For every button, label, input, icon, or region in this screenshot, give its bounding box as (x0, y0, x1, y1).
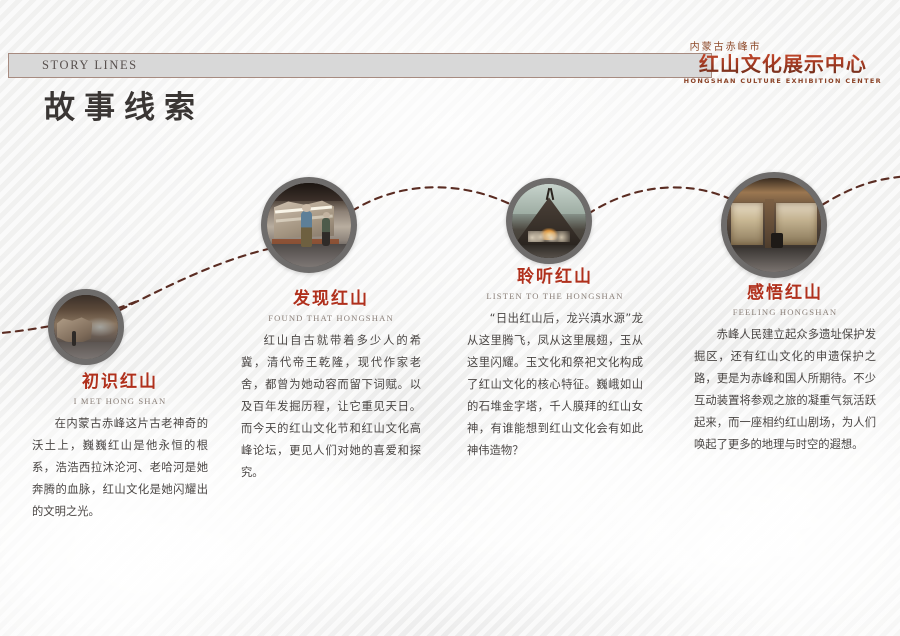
ceiling-beam (727, 178, 821, 202)
ceiling-shape (267, 183, 351, 201)
photo-3-scene (512, 184, 586, 258)
story-3-body: “日出红山后，龙兴滇水源”龙从这里腾飞，凤从这里展翅，玉从这里闪耀。玉文化和祭祀… (467, 308, 643, 462)
story-1-subtitle: I MET HONG SHAN (32, 396, 208, 406)
story-3-title: 聆听红山 (467, 267, 643, 287)
logo-title-en: HONGSHAN CULTURE EXHIBITION CENTER (684, 77, 882, 85)
photo-4-scene (727, 178, 821, 272)
story-block-1: 初识红山 I MET HONG SHAN 在内蒙古赤峰这片古老神奇的沃土上，巍巍… (32, 372, 208, 523)
story-4-title: 感悟红山 (694, 283, 876, 303)
story-1-title: 初识红山 (32, 372, 208, 392)
visitor-figure-b (322, 218, 330, 246)
story-lines-bar: STORY LINES (8, 53, 712, 78)
page-title: 故事线索 (44, 82, 204, 127)
floor-shape (267, 244, 351, 267)
water-shape (512, 245, 586, 258)
photo-2-scene (267, 183, 351, 267)
story-photo-3[interactable] (506, 178, 592, 264)
story-photo-1[interactable] (48, 289, 124, 365)
story-4-subtitle: FEELING HONGSHAN (694, 307, 876, 317)
story-1-body: 在内蒙古赤峰这片古老神奇的沃土上，巍巍红山是他永恒的根系，浩浩西拉沐沦河、老哈河… (32, 413, 208, 523)
roof-poles (545, 188, 555, 200)
dash-segment-2-3 (352, 187, 512, 211)
info-kiosk (771, 233, 783, 248)
story-2-subtitle: FOUND THAT HONGSHAN (241, 313, 421, 323)
dash-segment-end (822, 176, 900, 205)
story-lines-label: STORY LINES (42, 58, 138, 73)
story-block-3: 聆听红山 LISTEN TO THE HONGSHAN “日出红山后，龙兴滇水源… (467, 267, 643, 463)
exhibition-center-logo: 内蒙古赤峰市 红山文化展示中心 HONGSHAN CULTURE EXHIBIT… (684, 38, 882, 85)
story-2-title: 发现红山 (241, 289, 421, 309)
floor-shape (727, 248, 821, 272)
visitor-figure-a (301, 211, 312, 247)
photo-1-scene (54, 295, 118, 359)
story-3-subtitle: LISTEN TO THE HONGSHAN (467, 291, 643, 301)
visitor-figure (72, 331, 76, 346)
display-case-left (731, 203, 763, 244)
dash-segment-3-4 (588, 187, 744, 214)
story-2-body: 红山自古就带着多少人的希冀，清代帝王乾隆，现代作家老舍，都曾为她动容而留下词赋。… (241, 330, 421, 484)
story-photo-2[interactable] (261, 177, 357, 273)
story-block-4: 感悟红山 FEELING HONGSHAN 赤峰人民建立起众多遗址保护发掘区，还… (694, 283, 876, 456)
figures-group (528, 231, 569, 241)
floor-shape (54, 342, 118, 359)
story-photo-4[interactable] (721, 172, 827, 278)
logo-subtitle-cn: 内蒙古赤峰市 (684, 38, 882, 53)
logo-title-cn: 红山文化展示中心 (684, 54, 882, 75)
story-4-body: 赤峰人民建立起众多遗址保护发掘区，还有红山文化的申遗保护之路，更是为赤峰和国人所… (694, 324, 876, 456)
story-block-2: 发现红山 FOUND THAT HONGSHAN 红山自古就带着多少人的希冀，清… (241, 289, 421, 485)
